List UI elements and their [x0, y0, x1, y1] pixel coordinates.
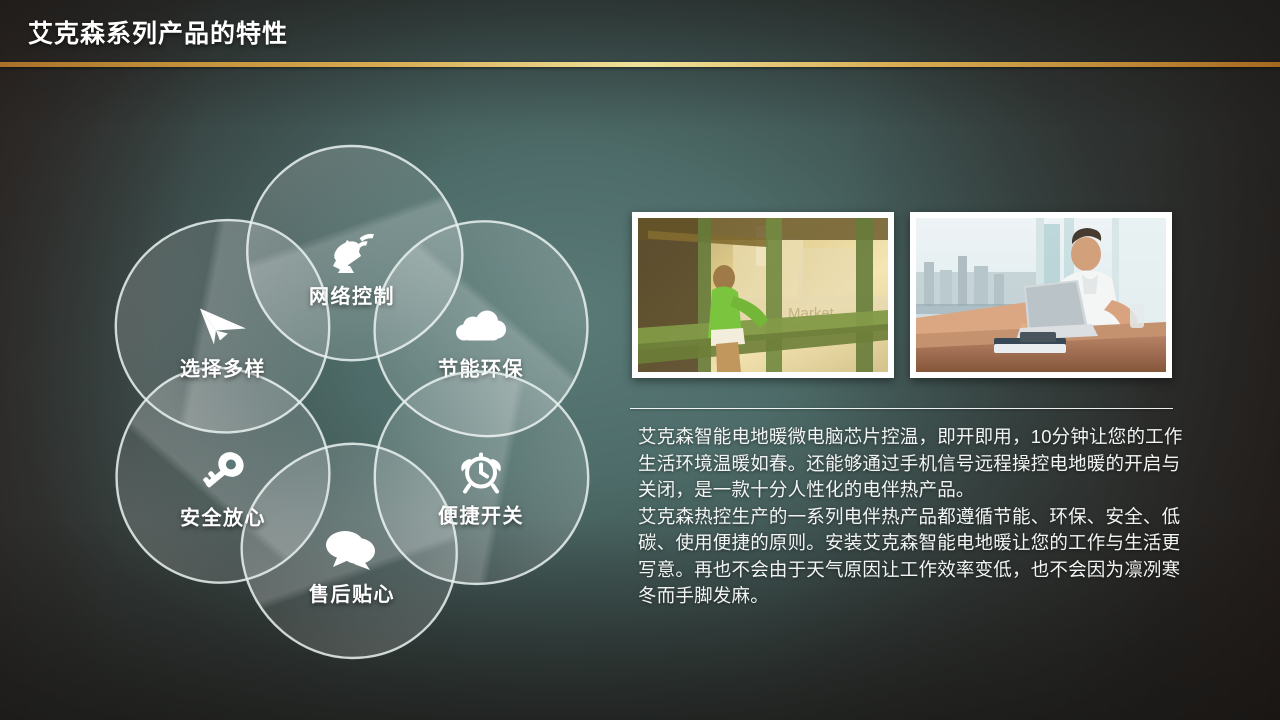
- photo-market-railing[interactable]: Market: [632, 212, 894, 378]
- photo-image: Market: [638, 218, 888, 372]
- slide-root: 艾克森系列产品的特性: [0, 0, 1280, 720]
- body-divider-rule: [630, 408, 1173, 409]
- photo-businessman-laptop[interactable]: [910, 212, 1172, 378]
- photo-image: [916, 218, 1166, 372]
- slide-header: 艾克森系列产品的特性: [0, 0, 1280, 62]
- feature-flower-diagram: 网络控制: [78, 128, 626, 676]
- page-title: 艾克森系列产品的特性: [28, 14, 288, 50]
- body-paragraph-2: 艾克森热控生产的一系列电伴热产品都遵循节能、环保、安全、低碳、使用便捷的原则。安…: [638, 504, 1186, 610]
- body-paragraph-1: 艾克森智能电地暖微电脑芯片控温，即开即用，10分钟让您的工作生活环境温暖如春。还…: [638, 424, 1186, 504]
- header-gold-divider: [0, 62, 1280, 67]
- body-copy: 艾克森智能电地暖微电脑芯片控温，即开即用，10分钟让您的工作生活环境温暖如春。还…: [638, 424, 1186, 610]
